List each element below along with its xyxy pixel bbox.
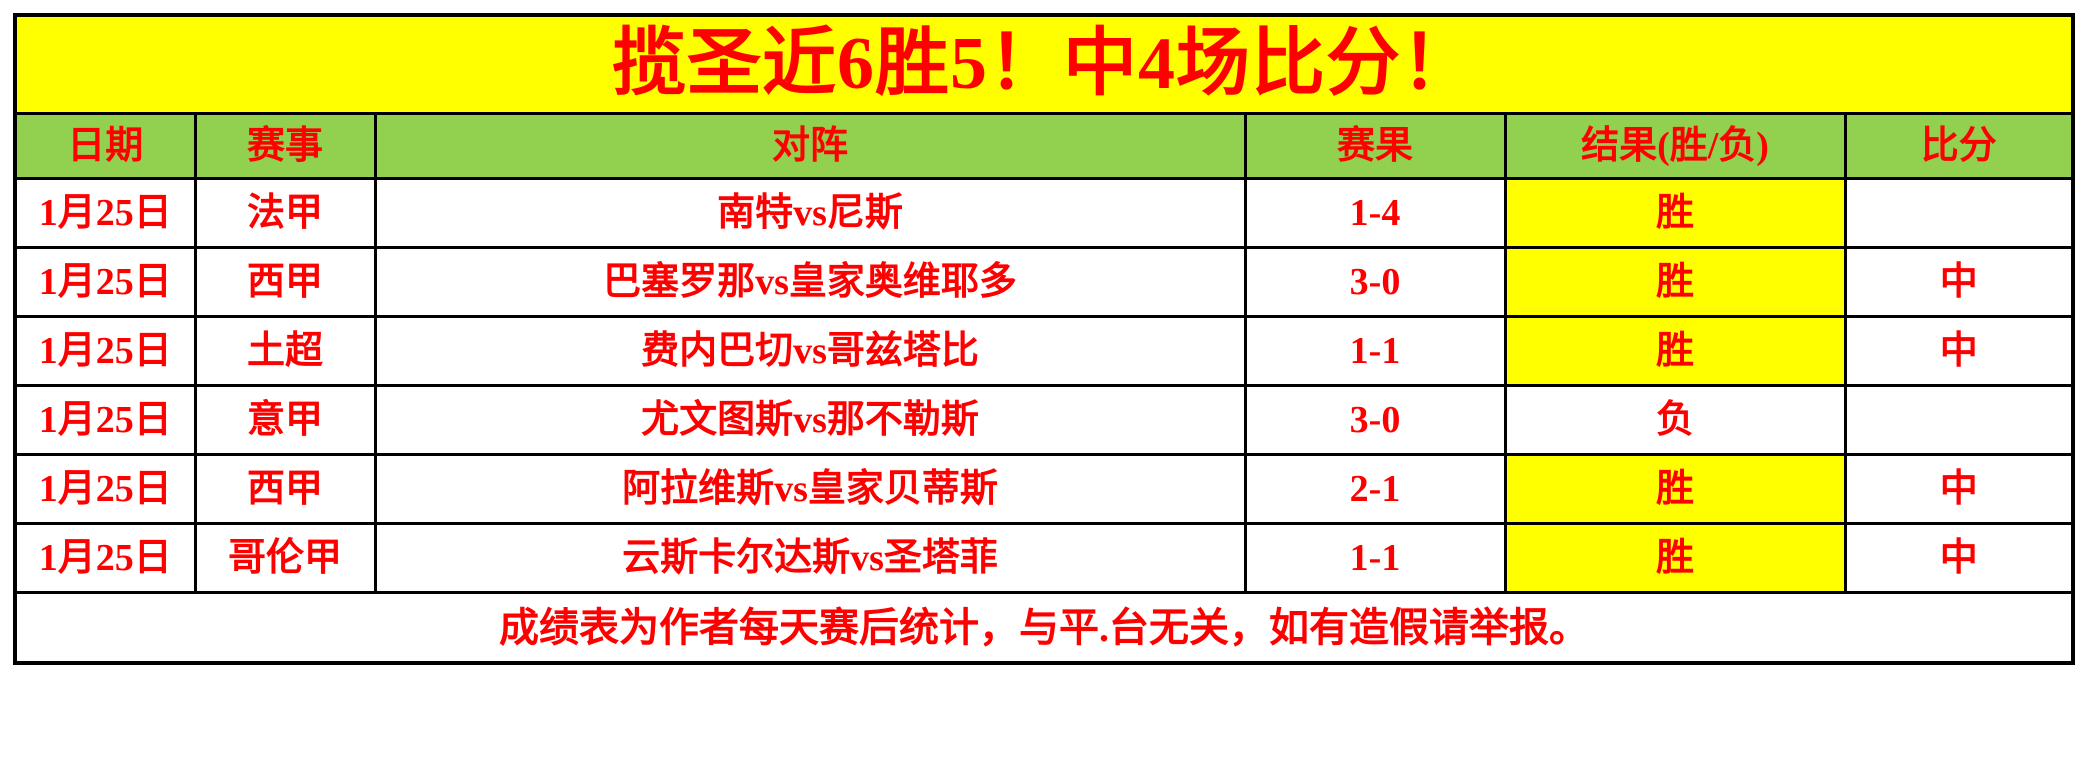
cell-league: 法甲 bbox=[195, 179, 375, 248]
table-row: 1月25日 法甲 南特vs尼斯 1-4 胜 bbox=[15, 179, 2073, 248]
disclaimer-note: 成绩表为作者每天赛后统计，与平.台无关，如有造假请举报。 bbox=[15, 593, 2073, 664]
cell-score: 1-1 bbox=[1245, 317, 1505, 386]
column-header-hit: 比分 bbox=[1845, 114, 2073, 179]
results-table: 揽圣近6胜5！中4场比分！ 日期 赛事 对阵 赛果 结果(胜/负) 比分 1月2… bbox=[13, 13, 2075, 665]
cell-result: 胜 bbox=[1505, 248, 1845, 317]
cell-league: 西甲 bbox=[195, 455, 375, 524]
cell-date: 1月25日 bbox=[15, 524, 195, 593]
column-header-league: 赛事 bbox=[195, 114, 375, 179]
cell-score: 3-0 bbox=[1245, 386, 1505, 455]
column-header-date: 日期 bbox=[15, 114, 195, 179]
cell-date: 1月25日 bbox=[15, 386, 195, 455]
cell-result: 胜 bbox=[1505, 179, 1845, 248]
cell-hit: 中 bbox=[1845, 524, 2073, 593]
cell-fixture: 南特vs尼斯 bbox=[375, 179, 1245, 248]
cell-league: 哥伦甲 bbox=[195, 524, 375, 593]
table-row: 1月25日 哥伦甲 云斯卡尔达斯vs圣塔菲 1-1 胜 中 bbox=[15, 524, 2073, 593]
cell-league: 西甲 bbox=[195, 248, 375, 317]
cell-league: 意甲 bbox=[195, 386, 375, 455]
cell-score: 1-4 bbox=[1245, 179, 1505, 248]
page-title: 揽圣近6胜5！中4场比分！ bbox=[15, 15, 2073, 114]
column-header-score: 赛果 bbox=[1245, 114, 1505, 179]
cell-fixture: 阿拉维斯vs皇家贝蒂斯 bbox=[375, 455, 1245, 524]
cell-fixture: 费内巴切vs哥兹塔比 bbox=[375, 317, 1245, 386]
cell-fixture: 云斯卡尔达斯vs圣塔菲 bbox=[375, 524, 1245, 593]
cell-hit: 中 bbox=[1845, 455, 2073, 524]
cell-league: 土超 bbox=[195, 317, 375, 386]
cell-result: 胜 bbox=[1505, 524, 1845, 593]
cell-score: 3-0 bbox=[1245, 248, 1505, 317]
table-row: 1月25日 西甲 阿拉维斯vs皇家贝蒂斯 2-1 胜 中 bbox=[15, 455, 2073, 524]
cell-date: 1月25日 bbox=[15, 248, 195, 317]
cell-score: 2-1 bbox=[1245, 455, 1505, 524]
cell-hit bbox=[1845, 179, 2073, 248]
title-row: 揽圣近6胜5！中4场比分！ bbox=[15, 15, 2073, 114]
footer-row: 成绩表为作者每天赛后统计，与平.台无关，如有造假请举报。 bbox=[15, 593, 2073, 664]
table-row: 1月25日 意甲 尤文图斯vs那不勒斯 3-0 负 bbox=[15, 386, 2073, 455]
table-header-row: 日期 赛事 对阵 赛果 结果(胜/负) 比分 bbox=[15, 114, 2073, 179]
cell-date: 1月25日 bbox=[15, 317, 195, 386]
cell-score: 1-1 bbox=[1245, 524, 1505, 593]
cell-date: 1月25日 bbox=[15, 179, 195, 248]
column-header-result: 结果(胜/负) bbox=[1505, 114, 1845, 179]
table-row: 1月25日 土超 费内巴切vs哥兹塔比 1-1 胜 中 bbox=[15, 317, 2073, 386]
cell-fixture: 巴塞罗那vs皇家奥维耶多 bbox=[375, 248, 1245, 317]
scoreboard-sheet: 揽圣近6胜5！中4场比分！ 日期 赛事 对阵 赛果 结果(胜/负) 比分 1月2… bbox=[13, 13, 2071, 750]
cell-result: 胜 bbox=[1505, 317, 1845, 386]
cell-fixture: 尤文图斯vs那不勒斯 bbox=[375, 386, 1245, 455]
column-header-fixture: 对阵 bbox=[375, 114, 1245, 179]
cell-result: 负 bbox=[1505, 386, 1845, 455]
cell-hit: 中 bbox=[1845, 248, 2073, 317]
cell-date: 1月25日 bbox=[15, 455, 195, 524]
cell-hit bbox=[1845, 386, 2073, 455]
table-row: 1月25日 西甲 巴塞罗那vs皇家奥维耶多 3-0 胜 中 bbox=[15, 248, 2073, 317]
cell-hit: 中 bbox=[1845, 317, 2073, 386]
cell-result: 胜 bbox=[1505, 455, 1845, 524]
